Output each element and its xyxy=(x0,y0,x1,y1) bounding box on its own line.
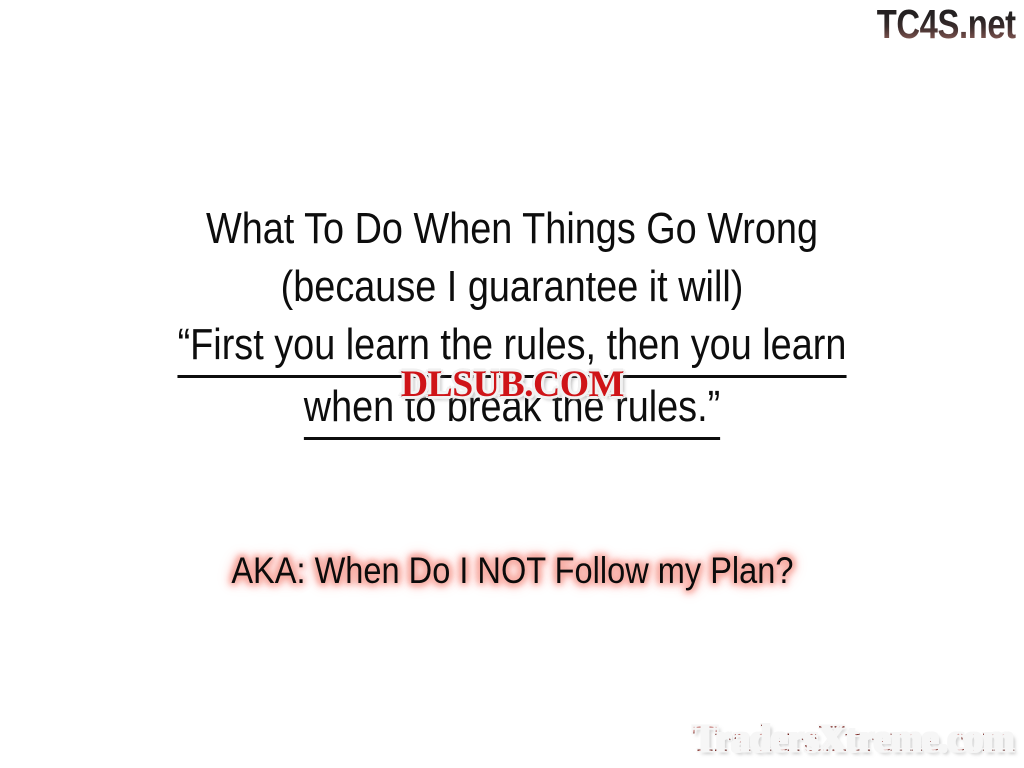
title-line-3-text: “First you learn the rules, then you lea… xyxy=(178,316,847,378)
title-line-4: when to break the rules.” xyxy=(72,378,953,440)
title-line-2: (because I guarantee it will) xyxy=(72,258,953,316)
brand-logo-tradersxtreme: TradersXtreme.com xyxy=(692,718,1014,760)
title-line-2-text: (because I guarantee it will) xyxy=(281,262,744,311)
slide-title-block: What To Do When Things Go Wrong (because… xyxy=(0,200,1024,440)
title-line-1-text: What To Do When Things Go Wrong xyxy=(206,204,818,253)
slide-canvas: TC4S.net What To Do When Things Go Wrong… xyxy=(0,0,1024,768)
brand-logo-tradersxtreme-text: TradersXtreme.com xyxy=(692,718,1014,760)
title-line-1: What To Do When Things Go Wrong xyxy=(72,200,953,258)
subtitle-text: AKA: When Do I NOT Follow my Plan? xyxy=(231,548,793,594)
brand-logo-tc4s: TC4S.net xyxy=(877,2,1016,46)
title-line-3: “First you learn the rules, then you lea… xyxy=(72,316,953,378)
title-line-4-text: when to break the rules.” xyxy=(304,378,720,440)
slide-subtitle: AKA: When Do I NOT Follow my Plan? xyxy=(0,548,1024,594)
